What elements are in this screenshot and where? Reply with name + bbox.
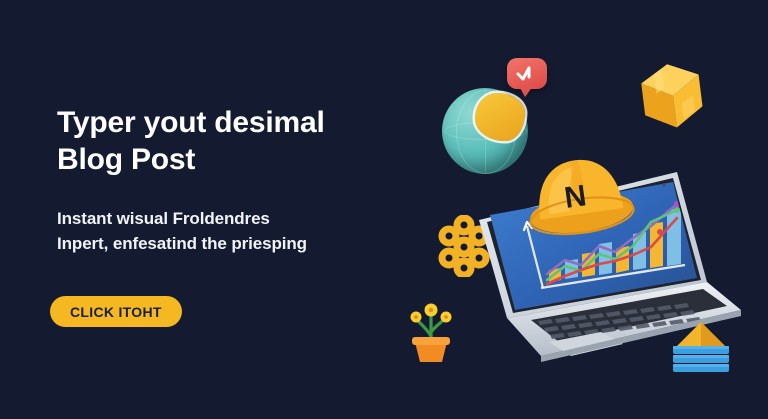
hero-illustration: N	[390, 0, 768, 419]
page-title: Typer yout desimal Blog Post	[57, 104, 407, 178]
headline-line-1: Typer yout desimal	[57, 106, 325, 139]
subtitle-line-1: Instant wisual Froldendres	[57, 209, 270, 228]
speech-bubble-icon	[507, 58, 547, 89]
subtitle: Instant wisual Froldendres Inpert, enfes…	[57, 178, 407, 256]
hard-hat-letter: N	[562, 179, 588, 215]
cta-button[interactable]: CLICK ITOHT	[50, 296, 182, 327]
subtitle-line-2: Inpert, enfesatind the priesping	[57, 231, 407, 256]
headline-line-2: Blog Post	[57, 141, 407, 178]
copy-block: Typer yout desimal Blog Post Instant wis…	[57, 104, 407, 256]
potted-plant-icon	[402, 292, 460, 364]
pyramid-stack-icon	[665, 318, 737, 380]
hard-hat-icon: N	[517, 143, 640, 246]
gold-cube-icon	[631, 54, 712, 138]
promo-banner: Typer yout desimal Blog Post Instant wis…	[0, 0, 768, 419]
globe-landmass	[475, 93, 525, 141]
